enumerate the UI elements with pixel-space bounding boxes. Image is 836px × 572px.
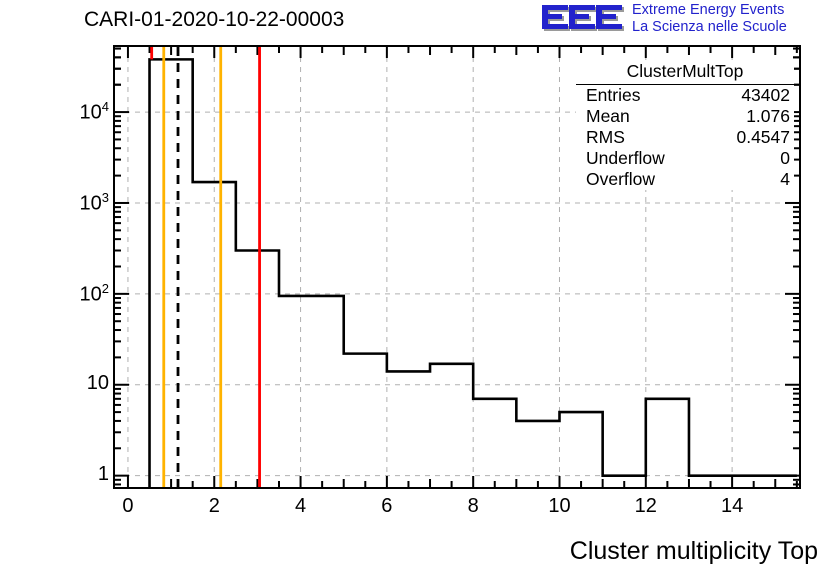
stats-row-value: 0.4547 bbox=[736, 127, 790, 148]
root-canvas: CARI-01-2020-10-22-00003 bbox=[0, 0, 836, 572]
x-axis-tick-label: 4 bbox=[276, 495, 326, 518]
x-axis-tick-label: 8 bbox=[448, 495, 498, 518]
x-axis-tick-label: 2 bbox=[189, 495, 239, 518]
y-axis-tick-label: 104 bbox=[80, 99, 109, 125]
stats-box[interactable]: ClusterMultTop Entries43402Mean1.076RMS0… bbox=[576, 60, 794, 190]
eee-logo-line2: La Scienza nelle Scuole bbox=[632, 19, 787, 36]
stats-row-label: Overflow bbox=[586, 169, 655, 190]
stats-row-label: RMS bbox=[586, 127, 625, 148]
x-axis-tick-label: 10 bbox=[534, 495, 584, 518]
stats-row: Underflow0 bbox=[576, 148, 794, 169]
stats-row-value: 1.076 bbox=[746, 106, 790, 127]
y-axis-tick-label: 103 bbox=[80, 190, 109, 216]
x-axis-tick-label: 6 bbox=[362, 495, 412, 518]
stats-row-label: Underflow bbox=[586, 148, 665, 169]
stats-row: Entries43402 bbox=[576, 85, 794, 106]
stats-row: Mean1.076 bbox=[576, 106, 794, 127]
x-axis-tick-label: 12 bbox=[621, 495, 671, 518]
eee-logo-mark bbox=[540, 4, 626, 34]
stats-row-value: 0 bbox=[780, 148, 790, 169]
x-axis-tick-label: 0 bbox=[103, 495, 153, 518]
x-axis-title: Cluster multiplicity Top bbox=[570, 537, 818, 566]
stats-row: Overflow4 bbox=[576, 169, 794, 190]
x-axis-tick-label: 14 bbox=[707, 495, 757, 518]
y-axis-tick-label: 10 bbox=[87, 372, 109, 395]
y-axis-tick-label: 102 bbox=[80, 281, 109, 307]
stats-row-value: 4 bbox=[780, 169, 790, 190]
stats-row: RMS0.4547 bbox=[576, 127, 794, 148]
stats-box-title: ClusterMultTop bbox=[576, 60, 794, 85]
stats-row-value: 43402 bbox=[741, 85, 790, 106]
page-title: CARI-01-2020-10-22-00003 bbox=[84, 8, 344, 32]
eee-logo-line1: Extreme Energy Events bbox=[632, 2, 787, 19]
y-axis-tick-label: 1 bbox=[98, 463, 109, 486]
stats-box-rows: Entries43402Mean1.076RMS0.4547Underflow0… bbox=[576, 85, 794, 190]
eee-logo-text: Extreme Energy Events La Scienza nelle S… bbox=[632, 2, 787, 36]
eee-logo: Extreme Energy Events La Scienza nelle S… bbox=[540, 2, 832, 40]
stats-row-label: Entries bbox=[586, 85, 640, 106]
stats-row-label: Mean bbox=[586, 106, 630, 127]
